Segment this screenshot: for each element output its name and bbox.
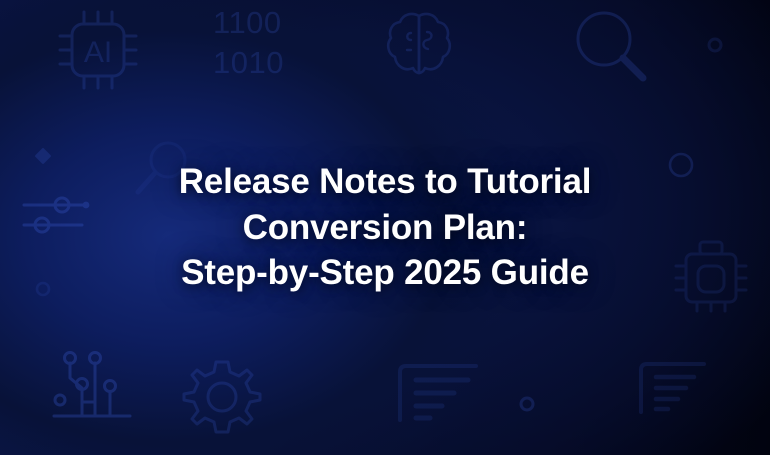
banner-image: AI 1100 1010 — [0, 0, 770, 455]
page-title: Release Notes to Tutorial Conversion Pla… — [179, 159, 592, 296]
title-container: Release Notes to Tutorial Conversion Pla… — [0, 0, 770, 455]
